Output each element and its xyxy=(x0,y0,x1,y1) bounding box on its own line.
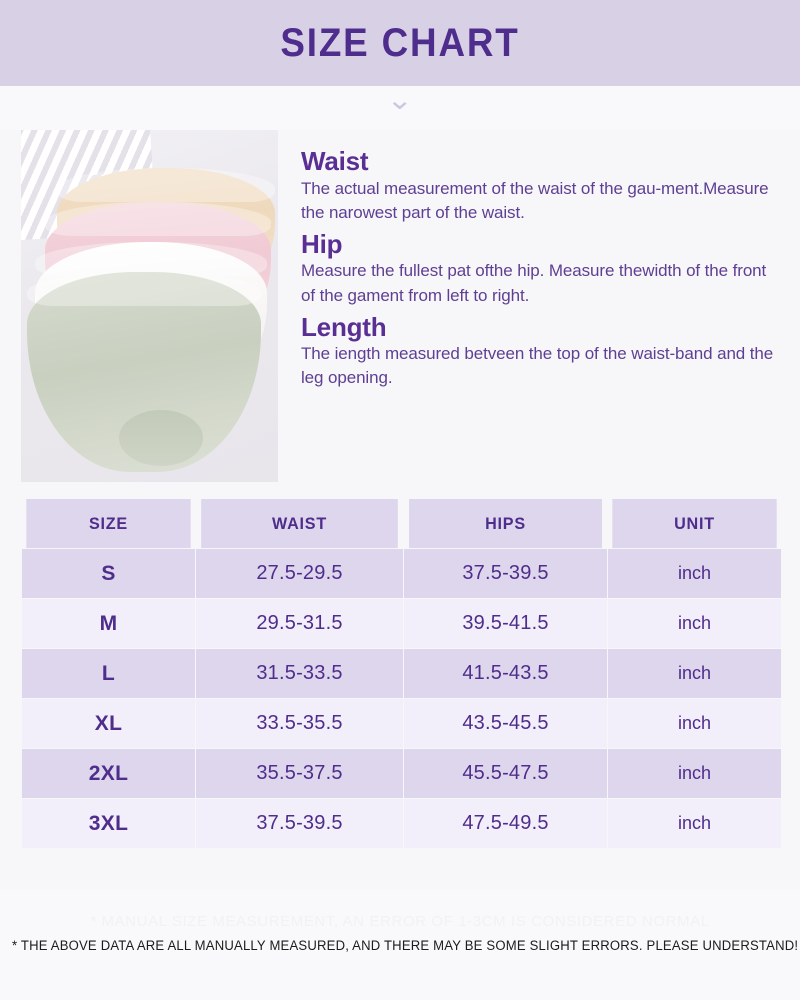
cell-waist: 31.5-33.5 xyxy=(196,649,403,698)
waistband xyxy=(45,202,271,236)
size-table-wrap: SIZE WAIST HIPS UNIT S 27.5-29.5 37.5-39… xyxy=(21,498,779,849)
table-row: L 31.5-33.5 41.5-43.5 inch xyxy=(22,649,781,698)
cell-size: 3XL xyxy=(22,799,195,848)
table-header: SIZE WAIST HIPS UNIT xyxy=(22,499,781,548)
cell-waist: 33.5-35.5 xyxy=(196,699,403,748)
header-band: SIZE CHART xyxy=(0,0,800,86)
hip-heading: Hip xyxy=(301,230,780,259)
cell-hips: 45.5-47.5 xyxy=(404,749,607,798)
cell-waist: 35.5-37.5 xyxy=(196,749,403,798)
info-section: Waist The actual measurement of the wais… xyxy=(0,130,800,490)
cell-hips: 43.5-45.5 xyxy=(404,699,607,748)
length-text: The iength measured betveen the top of t… xyxy=(301,342,780,390)
footer-disclaimer: * THE ABOVE DATA ARE ALL MANUALLY MEASUR… xyxy=(12,938,788,953)
column-header-waist: WAIST xyxy=(201,499,398,548)
waist-text: The actual measurement of the waist of t… xyxy=(301,177,780,225)
column-header-size: SIZE xyxy=(26,499,190,548)
waistband xyxy=(27,272,261,306)
cell-waist: 27.5-29.5 xyxy=(196,549,403,598)
waist-heading: Waist xyxy=(301,147,780,176)
cell-hips: 47.5-49.5 xyxy=(404,799,607,848)
cell-size: XL xyxy=(22,699,195,748)
table-row: S 27.5-29.5 37.5-39.5 inch xyxy=(22,549,781,598)
table-body: S 27.5-29.5 37.5-39.5 inch M 29.5-31.5 3… xyxy=(22,549,781,848)
table-row: XL 33.5-35.5 43.5-45.5 inch xyxy=(22,699,781,748)
cell-size: S xyxy=(22,549,195,598)
cell-size: 2XL xyxy=(22,749,195,798)
cell-unit: inch xyxy=(608,549,781,598)
cell-unit: inch xyxy=(608,649,781,698)
table-row: 2XL 35.5-37.5 45.5-47.5 inch xyxy=(22,749,781,798)
cell-waist: 29.5-31.5 xyxy=(196,599,403,648)
measurement-descriptions: Waist The actual measurement of the wais… xyxy=(278,130,780,490)
length-heading: Length xyxy=(301,313,780,342)
hip-text: Measure the fullest pat ofthe hip. Measu… xyxy=(301,259,780,307)
cell-unit: inch xyxy=(608,799,781,848)
cell-size: M xyxy=(22,599,195,648)
cell-hips: 39.5-41.5 xyxy=(404,599,607,648)
product-photo xyxy=(21,130,278,482)
table-header-row: SIZE WAIST HIPS UNIT xyxy=(22,499,781,548)
page-title: SIZE CHART xyxy=(280,21,519,66)
cell-unit: inch xyxy=(608,699,781,748)
table-row: M 29.5-31.5 39.5-41.5 inch xyxy=(22,599,781,648)
chevron-down-icon: ⌄ xyxy=(387,86,414,114)
cell-waist: 37.5-39.5 xyxy=(196,799,403,848)
cell-size: L xyxy=(22,649,195,698)
footer: * MANUAL SIZE MEASUREMENT, AN ERROR OF 1… xyxy=(0,890,800,1000)
cell-hips: 41.5-43.5 xyxy=(404,649,607,698)
column-header-hips: HIPS xyxy=(409,499,602,548)
chevron-divider: ⌄ xyxy=(0,86,800,130)
cell-unit: inch xyxy=(608,599,781,648)
waistband xyxy=(35,242,267,276)
footer-watermark: * MANUAL SIZE MEASUREMENT, AN ERROR OF 1… xyxy=(0,913,800,930)
cell-hips: 37.5-39.5 xyxy=(404,549,607,598)
brief-green xyxy=(27,272,261,472)
cell-unit: inch xyxy=(608,749,781,798)
waistband xyxy=(57,168,275,202)
size-table: SIZE WAIST HIPS UNIT S 27.5-29.5 37.5-39… xyxy=(21,498,782,849)
table-row: 3XL 37.5-39.5 47.5-49.5 inch xyxy=(22,799,781,848)
column-header-unit: UNIT xyxy=(612,499,776,548)
